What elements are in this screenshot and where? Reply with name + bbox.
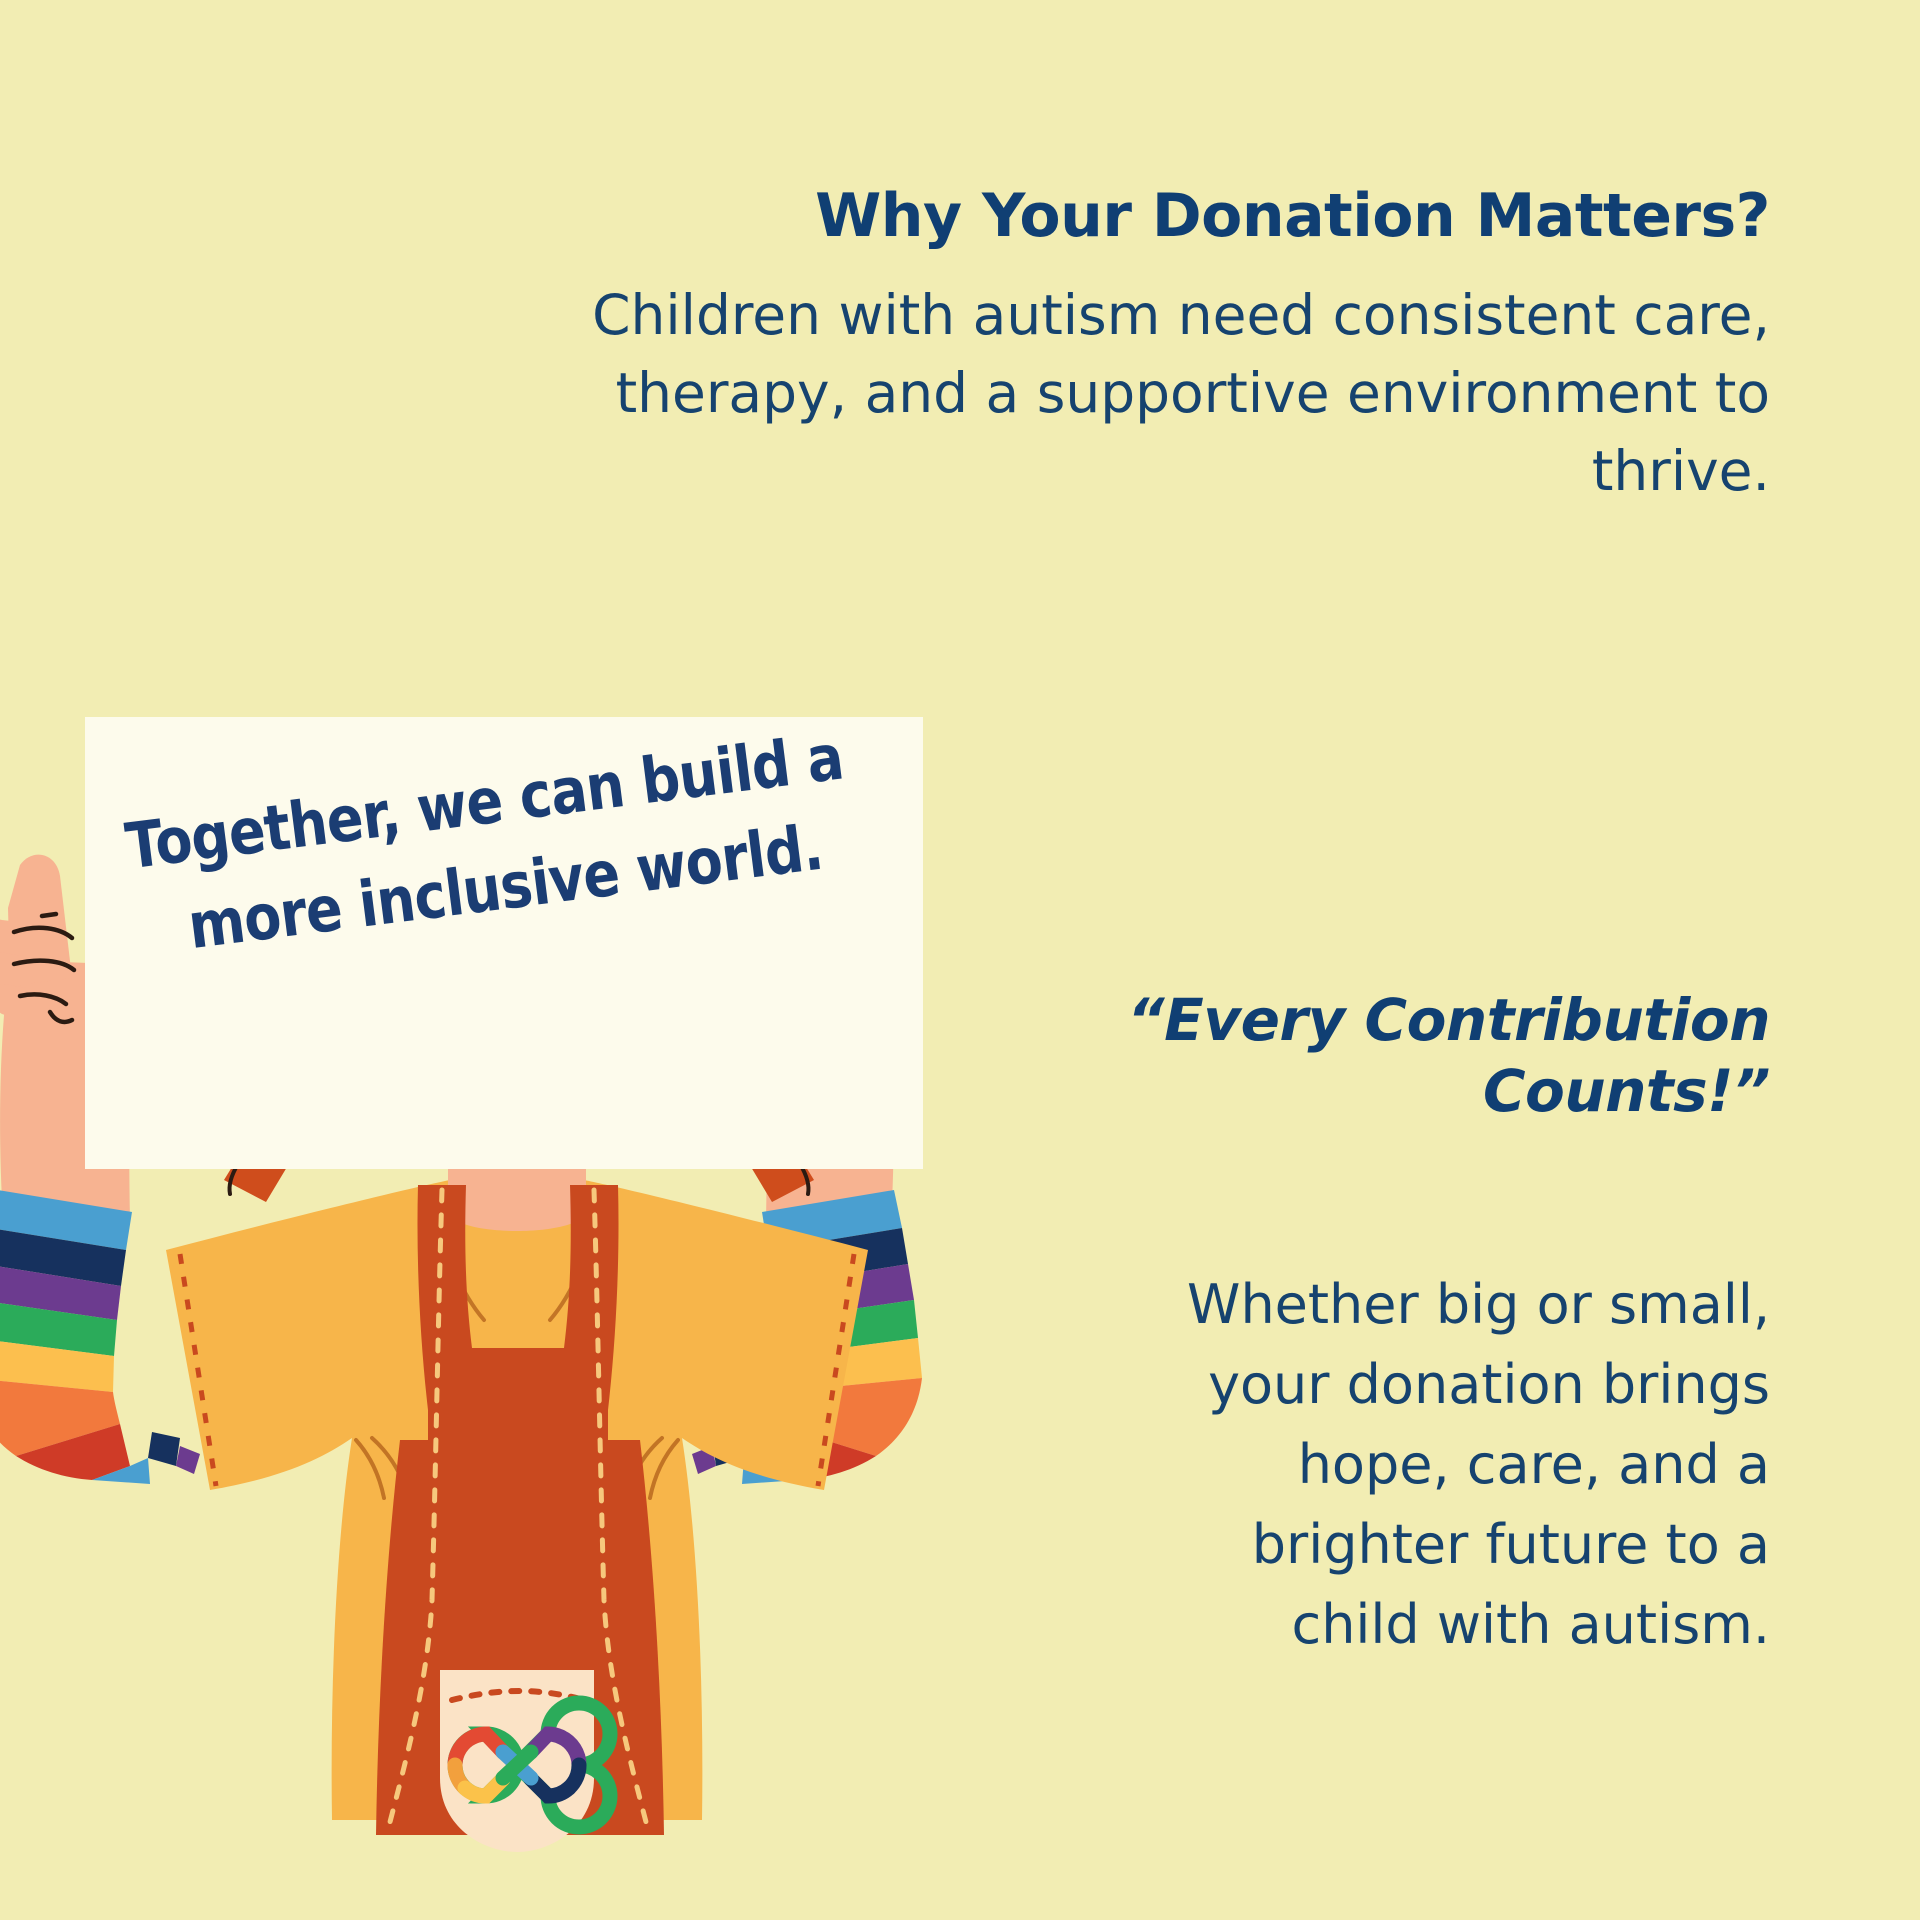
impact-line-4: brighter future to a (900, 1505, 1770, 1585)
impact-line-5: child with autism. (900, 1585, 1770, 1665)
protest-sign: Together, we can build a more inclusive … (85, 717, 923, 1169)
protest-sign-text: Together, we can build a more inclusive … (121, 710, 897, 978)
impact-line-1: Whether big or small, (900, 1265, 1770, 1345)
quote-line-2: Counts!” (820, 1056, 1770, 1127)
impact-line-3: hope, care, and a (900, 1425, 1770, 1505)
intro-paragraph: Children with autism need consistent car… (300, 276, 1770, 510)
poster-canvas: Together, we can build a more inclusive … (0, 0, 1920, 1920)
intro-line-1: Children with autism need consistent car… (300, 276, 1770, 354)
donation-impact-paragraph: Whether big or small, your donation brin… (900, 1265, 1770, 1665)
rainbow-stripe-sleeve-left (0, 1190, 200, 1484)
intro-line-3: thrive. (300, 432, 1770, 510)
every-contribution-counts-quote: “Every Contribution Counts!” (820, 985, 1770, 1127)
intro-line-2: therapy, and a supportive environment to (300, 354, 1770, 432)
page-title: Why Your Donation Matters? (300, 185, 1770, 248)
quote-line-1: “Every Contribution (820, 985, 1770, 1056)
impact-line-2: your donation brings (900, 1345, 1770, 1425)
why-donation-matters-block: Why Your Donation Matters? Children with… (300, 185, 1770, 510)
